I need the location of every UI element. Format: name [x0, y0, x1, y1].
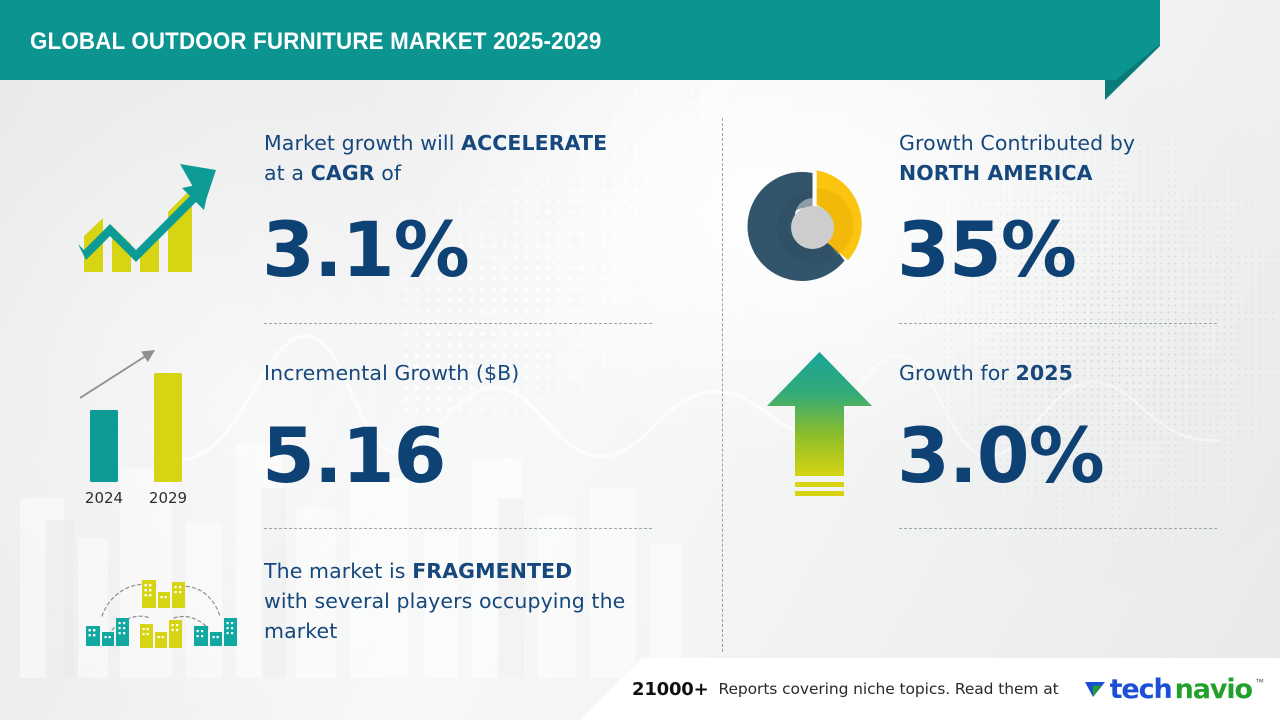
- infographic-canvas: GLOBAL OUTDOOR FURNITURE MARKET 2025-202…: [0, 0, 1280, 720]
- svg-text:2024: 2024: [85, 489, 123, 507]
- growth-2025-caption-pre: Growth for: [899, 361, 1016, 385]
- cagr-caption-cagr: CAGR: [311, 161, 375, 185]
- divider-right-1: [899, 323, 1217, 324]
- growth-2025-caption: Growth for 2025: [899, 358, 1229, 388]
- divider-right-2: [899, 528, 1217, 529]
- fragmentation-caption-pre: The market is: [264, 559, 412, 583]
- footer-content: 21000+ Reports covering niche topics. Re…: [580, 658, 1280, 720]
- cagr-caption-line2-post: of: [375, 161, 402, 185]
- fragmentation-caption-rest: with several players occupying the marke…: [264, 589, 625, 643]
- bar-comparison-icon: 2024 2029: [72, 330, 232, 520]
- cagr-caption-line1-pre: Market growth will: [264, 131, 461, 155]
- technavio-logo-mark-icon: [1083, 677, 1107, 701]
- north-america-caption: Growth Contributed by NORTH AMERICA: [899, 128, 1229, 188]
- cagr-caption-line2-pre: at a: [264, 161, 311, 185]
- report-count: 21000+: [632, 679, 709, 700]
- page-title: GLOBAL OUTDOOR FURNITURE MARKET 2025-202…: [30, 28, 601, 56]
- growth-2025-caption-year: 2025: [1016, 361, 1073, 385]
- svg-text:2029: 2029: [149, 489, 187, 507]
- footer-tagline: Reports covering niche topics. Read them…: [719, 680, 1059, 698]
- donut-chart-icon: [745, 160, 880, 295]
- logo-text-navio: navio: [1175, 674, 1252, 705]
- column-divider: [722, 118, 723, 652]
- divider-left-1: [264, 323, 652, 324]
- north-america-caption-line1: Growth Contributed by: [899, 131, 1135, 155]
- cities-network-icon: [78, 568, 243, 654]
- logo-trademark: ™: [1255, 677, 1264, 687]
- incremental-growth-caption: Incremental Growth ($B): [264, 358, 664, 388]
- cagr-caption: Market growth will ACCELERATE at a CAGR …: [264, 128, 664, 188]
- north-america-caption-region: NORTH AMERICA: [899, 161, 1093, 185]
- growth-2025-value: 3.0%: [897, 418, 1104, 494]
- divider-left-2: [264, 528, 652, 529]
- fragmentation-caption-bold: FRAGMENTED: [412, 559, 572, 583]
- growth-chart-icon: [70, 140, 230, 300]
- north-america-value: 35%: [897, 212, 1076, 288]
- cagr-value: 3.1%: [262, 212, 469, 288]
- fragmentation-caption: The market is FRAGMENTED with several pl…: [264, 556, 684, 646]
- technavio-logo[interactable]: technavio™: [1083, 674, 1264, 705]
- cagr-caption-accelerate: ACCELERATE: [461, 131, 607, 155]
- incremental-growth-value: 5.16: [262, 418, 446, 494]
- logo-text-tech: tech: [1110, 674, 1172, 705]
- arrow-up-icon: [762, 348, 877, 508]
